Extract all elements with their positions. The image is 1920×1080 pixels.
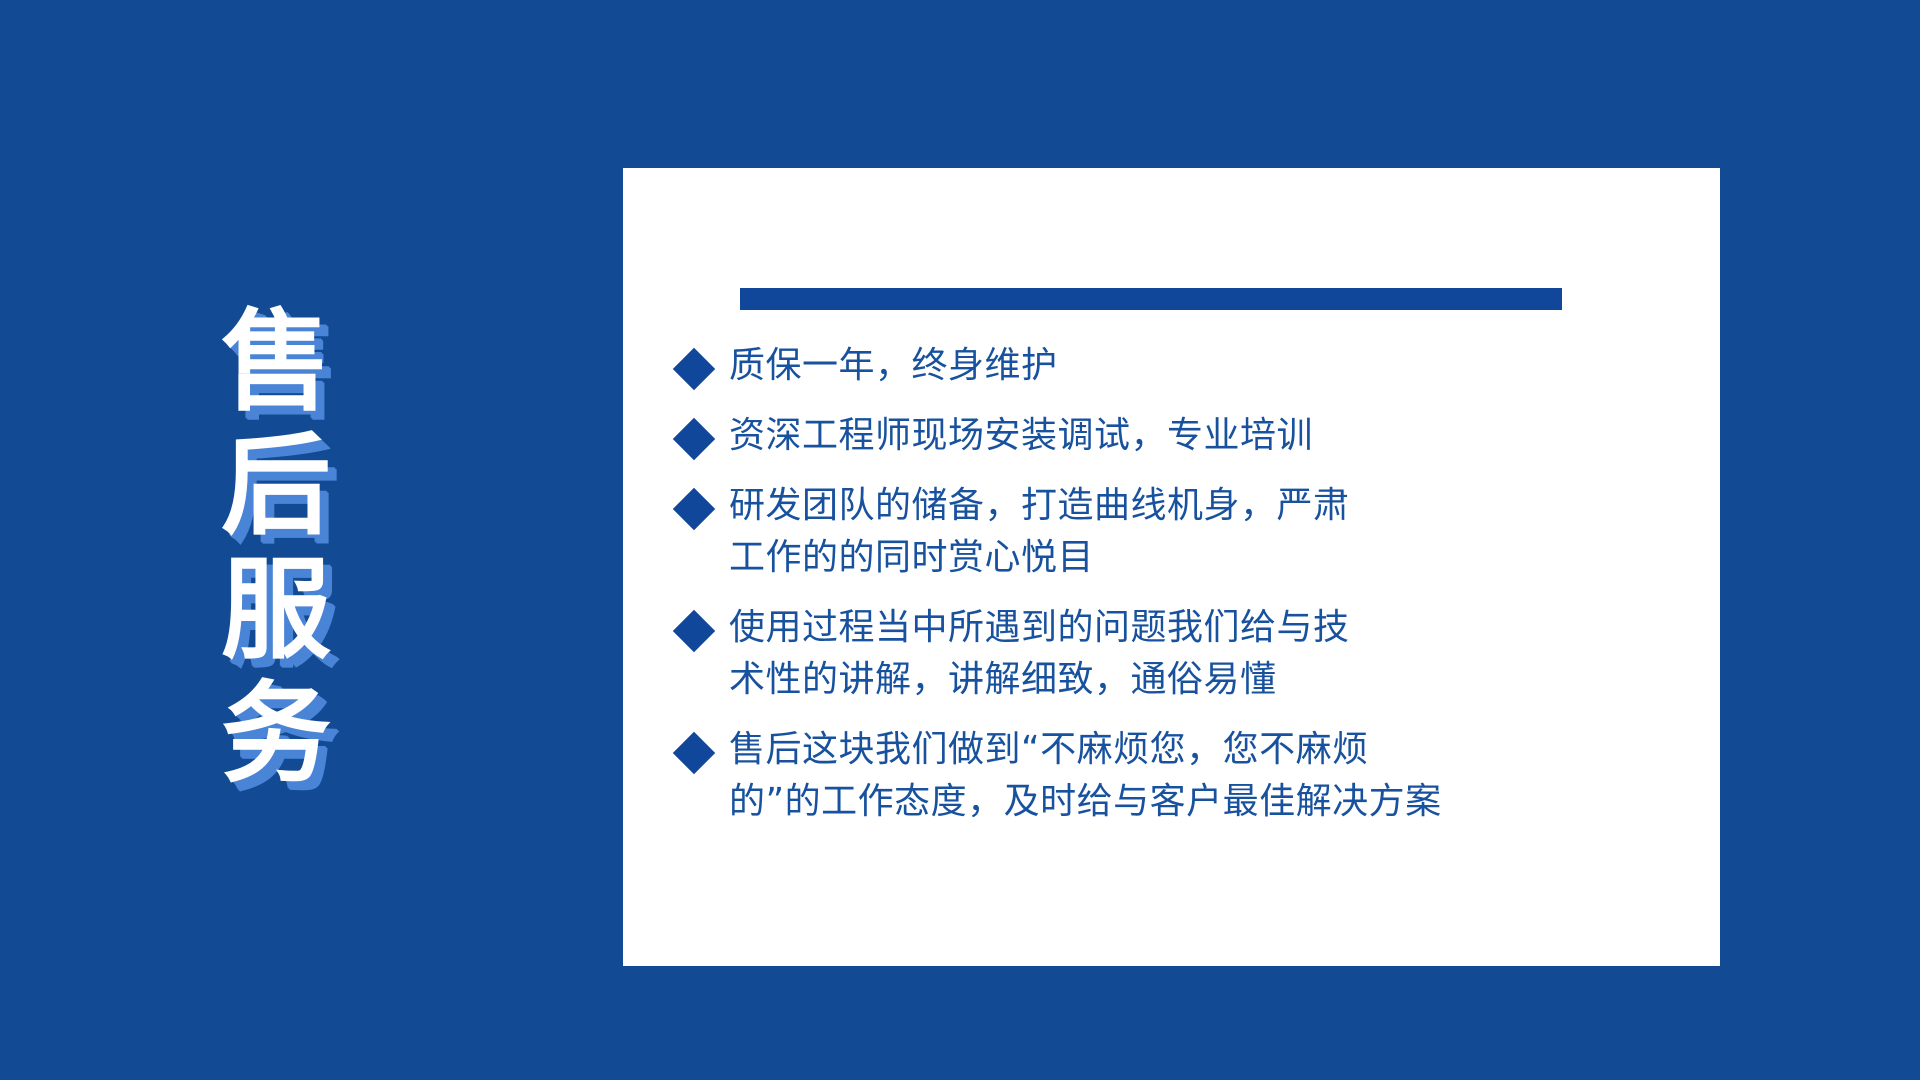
- list-item: 质保一年，终身维护: [679, 340, 1696, 392]
- title-char-1: 售: [196, 300, 356, 424]
- list-item: 研发团队的储备，打造曲线机身，严肃 工作的的同时赏心悦目: [679, 480, 1696, 584]
- list-item: 售后这块我们做到“不麻烦您，您不麻烦 的”的工作态度，及时给与客户最佳解决方案: [679, 724, 1696, 828]
- list-item-label: 资深工程师现场安装调试，专业培训: [729, 410, 1696, 462]
- diamond-bullet-icon: [673, 348, 715, 390]
- list-item-label: 使用过程当中所遇到的问题我们给与技 术性的讲解，讲解细致，通俗易懂: [729, 602, 1696, 706]
- accent-bar: [740, 288, 1562, 310]
- title-char-4: 务: [196, 672, 356, 796]
- list-item-label: 研发团队的储备，打造曲线机身，严肃 工作的的同时赏心悦目: [729, 480, 1696, 584]
- list-item: 资深工程师现场安装调试，专业培训: [679, 410, 1696, 462]
- title-char-3: 服: [196, 548, 356, 672]
- slide-root: 售 后 服 务 质保一年，终身维护 资深工程师现场安装调试，专业培训 研发团队的…: [0, 0, 1920, 1080]
- list-item: 使用过程当中所遇到的问题我们给与技 术性的讲解，讲解细致，通俗易懂: [679, 602, 1696, 706]
- page-title: 售 后 服 务: [196, 300, 356, 796]
- content-card: 质保一年，终身维护 资深工程师现场安装调试，专业培训 研发团队的储备，打造曲线机…: [623, 168, 1720, 966]
- diamond-bullet-icon: [673, 418, 715, 460]
- list-item-label: 质保一年，终身维护: [729, 340, 1696, 392]
- diamond-bullet-icon: [673, 610, 715, 652]
- title-char-2: 后: [196, 424, 356, 548]
- bullet-list: 质保一年，终身维护 资深工程师现场安装调试，专业培训 研发团队的储备，打造曲线机…: [679, 340, 1696, 846]
- diamond-bullet-icon: [673, 488, 715, 530]
- list-item-label: 售后这块我们做到“不麻烦您，您不麻烦 的”的工作态度，及时给与客户最佳解决方案: [729, 724, 1696, 828]
- diamond-bullet-icon: [673, 732, 715, 774]
